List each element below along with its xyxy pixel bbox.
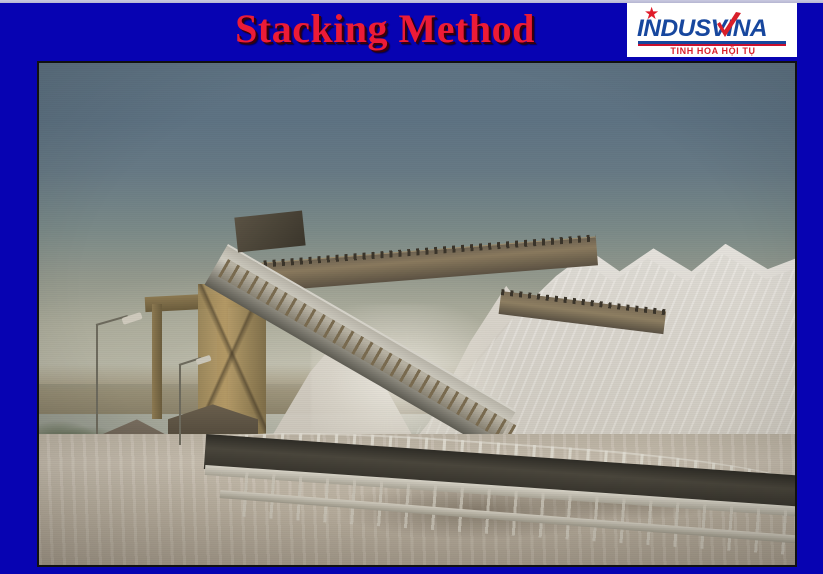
- photo-frame: Salt stacking plant: inclined conveyor d…: [37, 61, 797, 567]
- stacking-plant-photo: Salt stacking plant: inclined conveyor d…: [39, 63, 795, 565]
- company-logo[interactable]: ★ INDUSVINA TINH HOA HỘI TỤ: [627, 3, 797, 57]
- vignette-overlay: [39, 63, 795, 565]
- logo-wordmark: INDUSVINA: [637, 17, 792, 41]
- page-title: Stacking Method: [150, 2, 620, 54]
- logo-tagline: TINH HOA HỘI TỤ: [637, 45, 789, 57]
- slide-canvas: Stacking Method ★ INDUSVINA TINH HOA HỘI…: [0, 0, 823, 574]
- logo-inner: ★ INDUSVINA TINH HOA HỘI TỤ: [627, 3, 797, 57]
